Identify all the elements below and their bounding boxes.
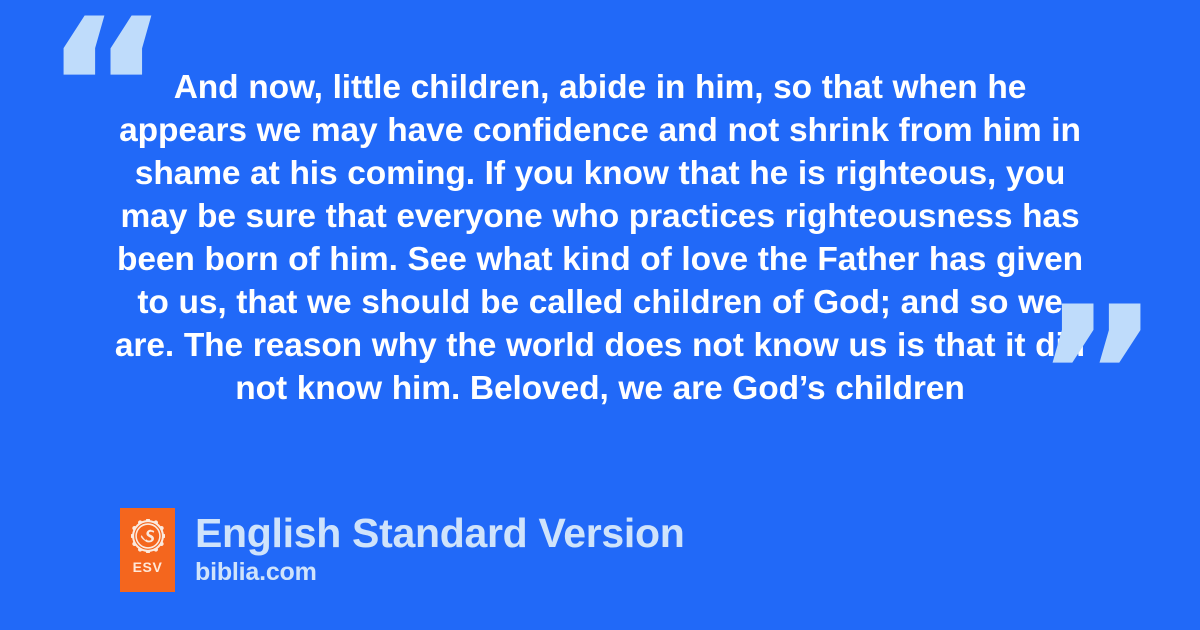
bible-verse-quote-card: “ And now, little children, abide in him… bbox=[0, 0, 1200, 630]
esv-seal-icon bbox=[131, 519, 165, 553]
bible-version-name: English Standard Version bbox=[195, 510, 684, 556]
close-quote-icon: ” bbox=[1035, 282, 1160, 472]
quote-text: And now, little children, abide in him, … bbox=[108, 66, 1092, 410]
site-url[interactable]: biblia.com bbox=[195, 558, 684, 587]
esv-logo-label: ESV bbox=[133, 560, 163, 574]
esv-logo: ESV bbox=[120, 508, 175, 592]
attribution-text: English Standard Version biblia.com bbox=[195, 508, 684, 587]
attribution: ESV English Standard Version biblia.com bbox=[120, 508, 684, 592]
quote-text-block: And now, little children, abide in him, … bbox=[108, 66, 1092, 410]
